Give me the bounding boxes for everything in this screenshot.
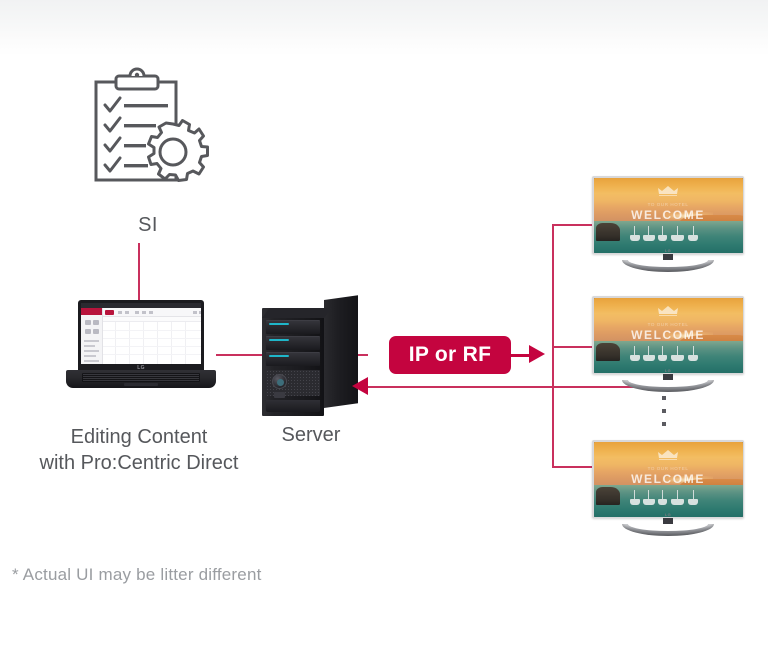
tv-display: TO OUR HOTEL WELCOME LG xyxy=(592,176,744,272)
tv-screen-subtext: TO OUR HOTEL xyxy=(594,322,743,327)
laptop-lid: LG xyxy=(78,300,204,372)
laptop-caption: Editing Content with Pro:Centric Direct xyxy=(6,424,272,476)
server-drive-bay xyxy=(266,352,320,366)
tv-stand xyxy=(622,524,714,536)
diagram-canvas: SI xyxy=(0,0,768,665)
tv-display: TO OUR HOTEL WELCOME LG xyxy=(592,440,744,536)
tv-bezel: TO OUR HOTEL WELCOME xyxy=(592,176,744,254)
tv-screen-subtext: TO OUR HOTEL xyxy=(594,466,743,471)
laptop-base xyxy=(66,370,216,388)
tv-stand xyxy=(622,260,714,272)
hotel-crown-logo xyxy=(655,304,681,317)
footnote: * Actual UI may be litter different xyxy=(12,565,262,585)
tv-display: TO OUR HOTEL WELCOME LG xyxy=(592,296,744,392)
tv-bezel: TO OUR HOTEL WELCOME xyxy=(592,296,744,374)
laptop-keyboard xyxy=(82,373,200,382)
tv-screen-welcome: WELCOME xyxy=(594,328,743,342)
hotel-crown-logo xyxy=(655,448,681,461)
server-badge xyxy=(274,392,285,398)
ip-or-rf-badge: IP or RF xyxy=(389,336,511,374)
tv-screen-subtext: TO OUR HOTEL xyxy=(594,202,743,207)
tv-screen: TO OUR HOTEL WELCOME xyxy=(594,442,743,517)
server-top xyxy=(262,308,332,318)
ip-or-rf-label: IP or RF xyxy=(409,343,492,367)
tv-chin: LG xyxy=(592,510,744,518)
server-front-panel xyxy=(262,308,324,416)
sidebar-accent-bar xyxy=(81,308,102,315)
hotel-crown-logo xyxy=(655,184,681,197)
more-tvs-ellipsis xyxy=(662,396,668,426)
server-power-button[interactable] xyxy=(272,374,287,389)
laptop-caption-line2: with Pro:Centric Direct xyxy=(40,452,239,474)
server-tower-icon xyxy=(262,300,358,416)
tv-brand-logo: LG xyxy=(665,368,671,373)
arrow-right-shaft xyxy=(511,354,531,357)
tv-bezel: TO OUR HOTEL WELCOME xyxy=(592,440,744,518)
laptop-touchpad xyxy=(124,383,158,386)
connector-to-tv-3 xyxy=(552,466,596,468)
tv-screen-welcome: WELCOME xyxy=(594,208,743,222)
server-drive-bay xyxy=(266,336,320,350)
server-caption: Server xyxy=(248,424,374,447)
clipboard-gear-icon xyxy=(78,66,218,214)
app-toolbar xyxy=(103,308,201,317)
laptop-screen xyxy=(81,303,201,364)
tv-screen: TO OUR HOTEL WELCOME xyxy=(594,178,743,253)
arrow-right-icon xyxy=(529,345,545,363)
tv-chin: LG xyxy=(592,366,744,374)
server-drive-bay xyxy=(266,320,320,334)
arrow-left-icon xyxy=(352,377,368,395)
app-sidebar xyxy=(81,308,103,364)
connector-to-tv-2 xyxy=(552,346,596,348)
tv-brand-logo: LG xyxy=(665,512,671,517)
si-label: SI xyxy=(78,214,218,237)
server-base xyxy=(266,400,320,412)
connector-si-to-laptop xyxy=(138,243,140,307)
tv-screen: TO OUR HOTEL WELCOME xyxy=(594,298,743,373)
tv-screen-welcome: WELCOME xyxy=(594,472,743,486)
connector-to-tv-1 xyxy=(552,224,596,226)
tv-chin: LG xyxy=(592,246,744,254)
tv-stand xyxy=(622,380,714,392)
laptop-caption-line1: Editing Content xyxy=(71,426,208,448)
laptop-icon: LG xyxy=(66,300,216,388)
tv-brand-logo: LG xyxy=(665,248,671,253)
app-content-grid xyxy=(103,322,201,364)
